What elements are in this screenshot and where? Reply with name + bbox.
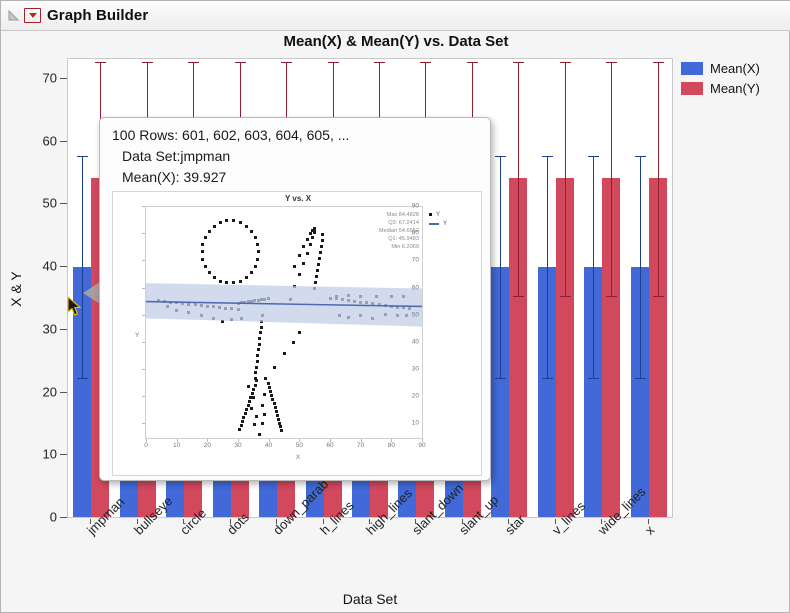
error-bar-cap [560, 296, 571, 297]
inner-stat-line: Max 84.4828 [387, 212, 419, 218]
error-bar-cap [635, 378, 646, 379]
inner-x-tick-mark [361, 439, 362, 442]
inner-x-tick-mark [177, 439, 178, 442]
error-bar-cap [77, 156, 88, 157]
inner-y-tick-label: 30 [412, 366, 419, 373]
legend-label: Mean(Y) [710, 81, 760, 96]
inner-x-tick-mark [146, 439, 147, 442]
error-bar-cap [235, 62, 246, 63]
inner-y-axis-title: Y [135, 332, 139, 339]
inner-y-tick-mark [142, 206, 145, 207]
graph-builder-window: Graph Builder Mean(X) & Mean(Y) vs. Data… [0, 0, 790, 613]
x-tick-label-x[interactable]: x [642, 522, 657, 537]
inner-x-tick-mark [330, 439, 331, 442]
tooltip-mean-label: Mean(X): [122, 169, 180, 185]
inner-y-tick-label: 20 [412, 393, 419, 400]
inner-x-tick-mark [391, 439, 392, 442]
inner-x-tick-mark [269, 439, 270, 442]
error-bar-cap [495, 156, 506, 157]
y-axis-title: X & Y [8, 271, 24, 307]
inner-x-tick-label: 40 [265, 442, 272, 449]
error-bar-cap [513, 296, 524, 297]
error-bar-cap [606, 296, 617, 297]
inner-y-tick-label: 80 [412, 230, 419, 237]
tooltip-dataset-label: Data Set: [122, 148, 180, 164]
error-bar-cap [635, 156, 646, 157]
inner-y-tick-label: 90 [412, 203, 419, 210]
y-axis: X & Y 010203040506070 [1, 58, 67, 519]
error-bar-cap [467, 62, 478, 63]
tooltip-dataset-line: Data Set:jmpman [122, 148, 230, 164]
inner-x-tick-label: 60 [326, 442, 333, 449]
inner-x-tick-label: 50 [296, 442, 303, 449]
y-tick-label: 60 [43, 133, 57, 148]
y-tick-label: 20 [43, 384, 57, 399]
inner-stat-line: Q1: 45.9483 [388, 236, 419, 242]
error-bar-stem [82, 156, 83, 378]
inner-plot-area [145, 206, 423, 439]
error-bar-stem [593, 156, 594, 378]
error-bar-stem [547, 156, 548, 378]
error-bar-cap [188, 62, 199, 63]
error-bar-cap [328, 62, 339, 63]
inner-y-tick-mark [142, 315, 145, 316]
error-bar-stem [518, 62, 519, 296]
inner-y-tick-mark [142, 369, 145, 370]
regression-band [146, 207, 422, 438]
legend-label: Mean(X) [710, 61, 760, 76]
error-bar-cap [542, 378, 553, 379]
inner-legend-label: Y [443, 221, 447, 227]
inner-stat-line: Q3: 67.2414 [388, 220, 419, 226]
triangle-collapse-icon[interactable] [7, 9, 20, 22]
inner-y-tick-label: 40 [412, 338, 419, 345]
y-tick-mark [60, 266, 67, 267]
error-bar-cap [653, 62, 664, 63]
inner-y-tick-mark [142, 396, 145, 397]
inner-y-tick-mark [142, 342, 145, 343]
y-tick-mark [60, 392, 67, 393]
inner-x-tick-label: 70 [357, 442, 364, 449]
error-bar-cap [77, 378, 88, 379]
x-axis-title: Data Set [67, 591, 673, 607]
inner-x-tick-label: 10 [173, 442, 180, 449]
error-bar-stem [658, 62, 659, 296]
point-marker-icon [429, 213, 432, 216]
error-bar-cap [606, 62, 617, 63]
legend-item-meanx[interactable]: Mean(X) [681, 59, 789, 77]
tooltip-dataset-value: jmpman [180, 148, 230, 164]
inner-chart-legend: YY [429, 210, 479, 228]
hover-tooltip: 100 Rows: 601, 602, 603, 604, 605, ... D… [99, 117, 491, 481]
red-dropdown-icon[interactable] [24, 8, 41, 23]
error-bar-stem [640, 156, 641, 378]
inner-y-tick-label: 50 [412, 311, 419, 318]
y-tick-mark [60, 78, 67, 79]
error-bar-cap [588, 156, 599, 157]
error-bar-cap [542, 156, 553, 157]
inner-x-axis-title: X [113, 454, 483, 461]
y-tick-mark [60, 329, 67, 330]
inner-y-tick-mark [142, 260, 145, 261]
chart-title: Mean(X) & Mean(Y) vs. Data Set [1, 33, 790, 50]
inner-y-tick-mark [142, 233, 145, 234]
error-bar-cap [513, 62, 524, 63]
legend-item-meany[interactable]: Mean(Y) [681, 79, 789, 97]
inner-x-tick-mark [238, 439, 239, 442]
arrow-cursor-icon [67, 296, 83, 322]
error-bar-cap [588, 378, 599, 379]
error-bar-cap [281, 62, 292, 63]
x-axis: jmpmanbullseyecircledotsdown_parabh_line… [67, 519, 673, 589]
y-tick-label: 40 [43, 259, 57, 274]
inner-x-tick-mark [299, 439, 300, 442]
inner-legend-item: Y [429, 219, 479, 228]
chevron-down-icon [29, 13, 37, 18]
y-tick-label: 50 [43, 196, 57, 211]
tooltip-pointer [83, 282, 100, 304]
inner-x-tick-label: 0 [144, 442, 148, 449]
legend-swatch-icon [681, 62, 703, 75]
inner-x-tick-mark [422, 439, 423, 442]
error-bar-stem [565, 62, 566, 296]
inner-legend-item: Y [429, 210, 479, 219]
inner-x-tick-mark [207, 439, 208, 442]
inner-chart-title: Y vs. X [113, 194, 483, 203]
tooltip-mean-value: 39.927 [183, 169, 226, 185]
y-tick-label: 70 [43, 70, 57, 85]
tooltip-rows-line: 100 Rows: 601, 602, 603, 604, 605, ... [112, 127, 349, 143]
inner-x-tick-label: 90 [418, 442, 425, 449]
window-titlebar: Graph Builder [1, 1, 790, 31]
inner-y-tick-mark [142, 423, 145, 424]
error-bar-cap [653, 296, 664, 297]
y-tick-mark [60, 517, 67, 518]
error-bar-stem [611, 62, 612, 296]
line-marker-icon [429, 223, 439, 225]
inner-legend-label: Y [436, 212, 440, 218]
legend-swatch-icon [681, 82, 703, 95]
inner-y-tick-mark [142, 288, 145, 289]
error-bar-cap [495, 378, 506, 379]
y-tick-mark [60, 203, 67, 204]
inner-y-tick-label: 70 [412, 257, 419, 264]
error-bar-stem [500, 156, 501, 378]
inner-y-tick-label: 60 [412, 284, 419, 291]
error-bar-cap [560, 62, 571, 63]
chart-legend: Mean(X)Mean(Y) [681, 59, 789, 99]
inner-x-tick-label: 80 [388, 442, 395, 449]
tooltip-mean-line: Mean(X): 39.927 [122, 169, 226, 185]
inner-x-tick-label: 30 [234, 442, 241, 449]
y-tick-label: 10 [43, 447, 57, 462]
y-tick-label: 30 [43, 321, 57, 336]
inner-stat-line: Min 6.2069 [391, 244, 419, 250]
error-bar-cap [420, 62, 431, 63]
y-tick-mark [60, 141, 67, 142]
error-bar-cap [95, 62, 106, 63]
inner-x-tick-label: 20 [204, 442, 211, 449]
error-bar-cap [374, 62, 385, 63]
inner-y-tick-label: 10 [412, 420, 419, 427]
error-bar-cap [142, 62, 153, 63]
y-tick-label: 0 [50, 510, 57, 525]
tooltip-inner-chart: Y vs. X Y X Max 84.4828Q3: 67.2414Median… [112, 191, 482, 476]
y-tick-mark [60, 454, 67, 455]
window-title: Graph Builder [47, 7, 148, 24]
